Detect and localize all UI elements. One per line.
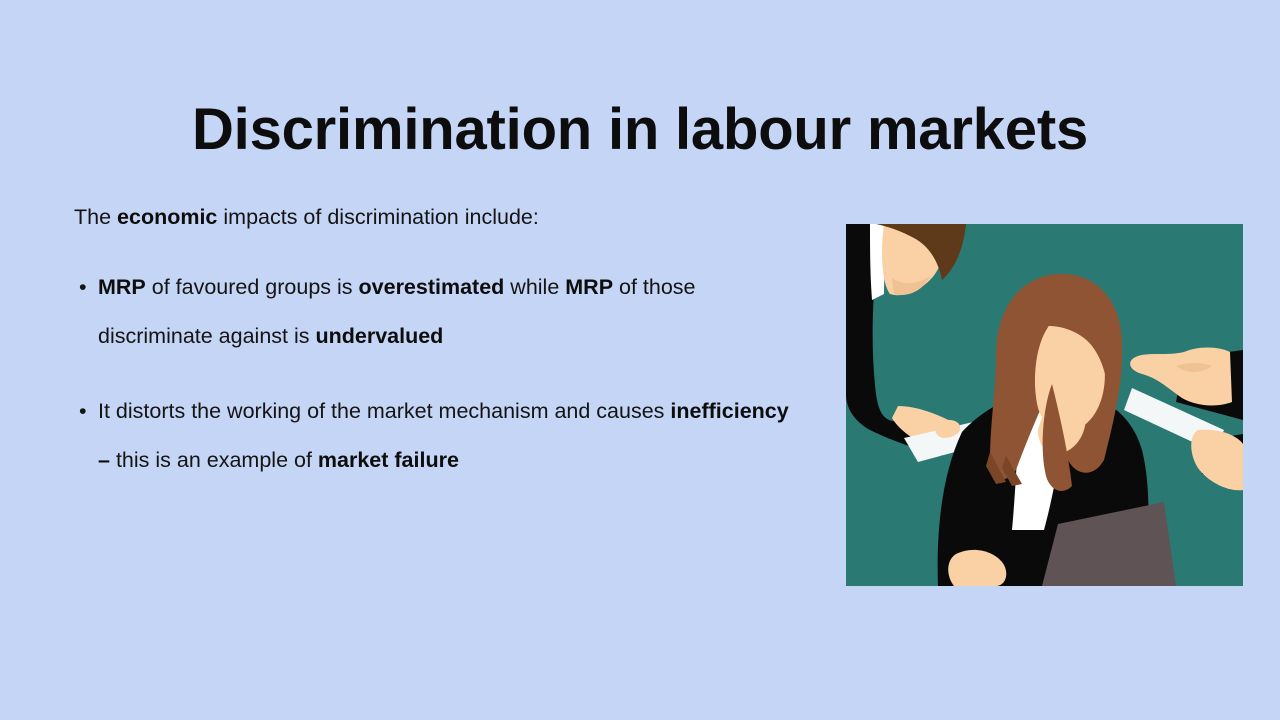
bullet-1-part-2: overestimated [359,275,505,299]
intro-text-part: The [74,205,117,229]
intro-text-part-2: impacts of discrimination include: [217,205,538,229]
list-item-text: MRP of favoured groups is overestimated … [98,275,696,348]
bullet-1-part-4: MRP [565,275,613,299]
body-content: The economic impacts of discrimination i… [74,207,794,485]
bullet-2-part-3: market failure [318,448,459,472]
bullet-1-part-0: MRP [98,275,146,299]
list-item-text: It distorts the working of the market me… [98,399,789,472]
bullet-1-part-6: undervalued [315,324,443,348]
list-item: • It distorts the working of the market … [74,387,794,485]
bullet-2-part-0: It distorts the working of the market me… [98,399,670,423]
intro-paragraph: The economic impacts of discrimination i… [74,207,794,229]
list-item: • MRP of favoured groups is overestimate… [74,263,794,361]
bullet-1-part-3: while [504,275,565,299]
slide: Discrimination in labour markets The eco… [0,0,1280,720]
bullet-1-part-1: of favoured groups is [146,275,359,299]
illustration-svg [846,224,1243,586]
bullet-dot-icon: • [79,263,87,312]
workplace-discrimination-illustration [846,224,1243,586]
intro-text-bold: economic [117,205,217,229]
bullet-2-part-2: this is an example of [110,448,318,472]
bullet-dot-icon: • [79,387,87,436]
bullet-list: • MRP of favoured groups is overestimate… [74,263,794,485]
page-title: Discrimination in labour markets [0,101,1280,159]
